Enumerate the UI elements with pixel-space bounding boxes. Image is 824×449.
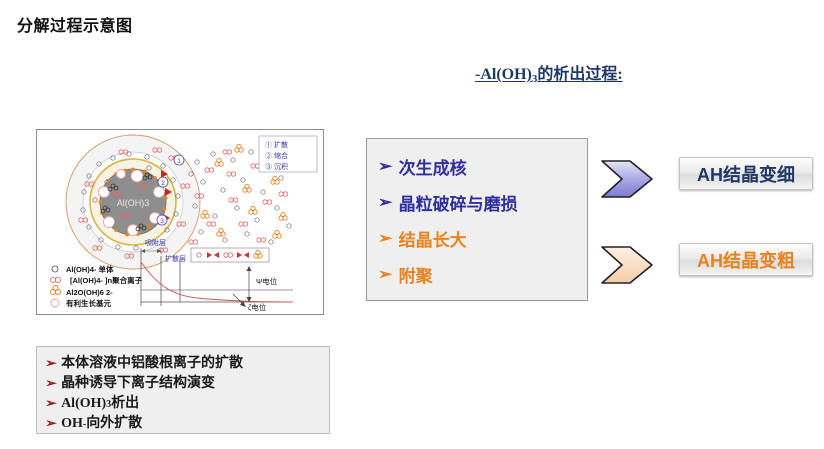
- process-step-hydroxide-outward-diffusion: ➢ OH-向外扩散: [46, 412, 329, 432]
- arrow-bullet-icon: ➢: [45, 396, 57, 411]
- mechanism-item-secondary-nucleation: ➢ 次生成核: [379, 148, 587, 184]
- subtitle: -Al(OH)3的析出过程:: [475, 60, 623, 85]
- arrow-bullet-icon: ➢: [45, 356, 57, 371]
- figure-step-2: ② 缩合: [265, 151, 288, 160]
- mechanism-item-label: 晶粒破碎与磨损: [399, 190, 518, 215]
- result-box-fine-crystal: AH结晶变细: [679, 157, 813, 190]
- psi-potential-label: Ψ电位: [256, 276, 278, 286]
- mechanism-item-label: 次生成核: [399, 154, 467, 179]
- arrow-bullet-icon: ➢: [45, 416, 57, 431]
- mechanism-item-crystal-growth: ➢ 结晶长大: [379, 220, 587, 256]
- chevron-arrow-fine-icon: [600, 155, 670, 203]
- figure-step-3: ③ 沉积: [265, 162, 288, 171]
- adsorption-layer-label: 吸附层: [145, 238, 166, 247]
- mechanism-item-label: 附聚: [399, 262, 433, 287]
- figure-step-1: ① 扩散: [265, 140, 288, 149]
- page-title: 分解过程示意图: [17, 12, 133, 36]
- process-step-formula: OH: [61, 416, 83, 432]
- arrow-bullet-icon: ➢: [378, 159, 392, 174]
- mechanism-item-agglomeration: ➢ 附聚: [379, 256, 587, 292]
- process-step-formula: Al(OH): [61, 396, 106, 412]
- arrow-bullet-icon: ➢: [45, 376, 57, 391]
- process-step-label: 本体溶液中铝酸根离子的扩散: [61, 352, 243, 372]
- process-step-label: 向外扩散: [86, 412, 142, 432]
- figure-legend-growth-unit: 有利生长基元: [66, 298, 111, 308]
- result-box-coarse-crystal: AH结晶变粗: [679, 243, 813, 276]
- mechanism-item-label: 结晶长大: [399, 226, 467, 251]
- core-particle-label: Al(OH)3: [117, 198, 150, 208]
- schematic-svg: Al(OH)3: [37, 130, 323, 314]
- process-steps-box: ➢ 本体溶液中铝酸根离子的扩散 ➢ 晶种诱导下离子结构演变 ➢ Al(OH)3析…: [36, 346, 330, 434]
- svg-text:1: 1: [177, 158, 181, 165]
- mechanism-list-box: ➢ 次生成核 ➢ 晶粒破碎与磨损 ➢ 结晶长大 ➢ 附聚: [366, 138, 588, 301]
- process-step-bulk-diffusion: ➢ 本体溶液中铝酸根离子的扩散: [46, 352, 329, 372]
- decomposition-schematic-figure: Al(OH)3: [36, 129, 324, 315]
- process-step-label: 析出: [111, 392, 139, 412]
- figure-legend-monomer: Al(OH)4- 单体: [66, 264, 114, 274]
- figure-legend-polymer: [Al(OH)4- ]n聚合离子: [70, 275, 143, 285]
- arrow-bullet-icon: ➢: [378, 267, 392, 282]
- subtitle-prefix: -Al(OH): [475, 66, 532, 83]
- diffusion-layer-label: 扩散层: [165, 254, 186, 263]
- svg-text:2: 2: [161, 180, 165, 187]
- arrow-bullet-icon: ➢: [378, 231, 392, 246]
- svg-text:3: 3: [160, 218, 164, 225]
- process-step-label: 晶种诱导下离子结构演变: [61, 372, 215, 392]
- mechanism-item-crystal-breakage: ➢ 晶粒破碎与磨损: [379, 184, 587, 220]
- chevron-arrow-coarse-icon: [600, 241, 670, 289]
- zeta-potential-label: ζ电位: [248, 302, 267, 312]
- process-step-seed-induced-evolution: ➢ 晶种诱导下离子结构演变: [46, 372, 329, 392]
- process-step-alumina-precipitation: ➢ Al(OH)3析出: [46, 392, 329, 412]
- figure-legend-cluster: Al2O(OH)6 2-: [66, 288, 113, 297]
- arrow-bullet-icon: ➢: [378, 195, 392, 210]
- subtitle-suffix: 的析出过程:: [537, 66, 622, 83]
